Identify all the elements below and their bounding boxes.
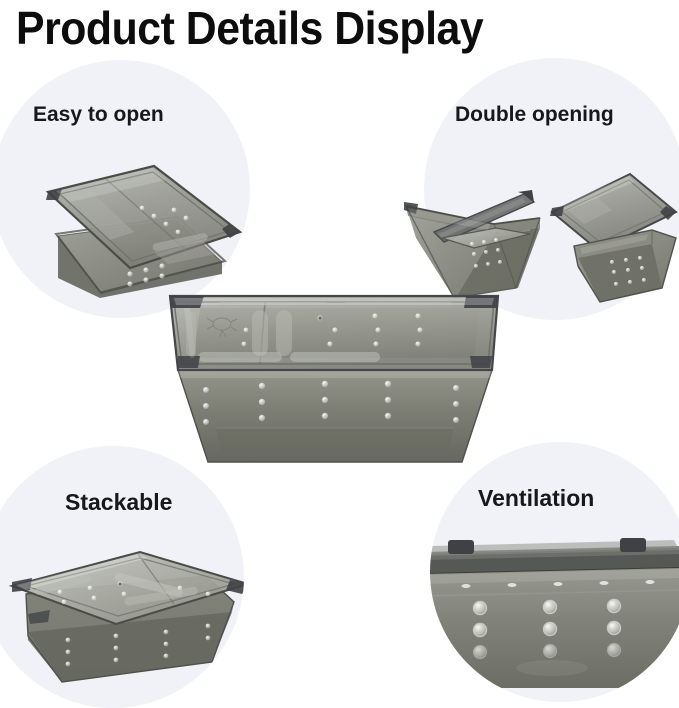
feature-label-easy-to-open: Easy to open: [33, 103, 164, 127]
page-title: Product Details Display: [16, 2, 621, 54]
feature-label-stackable: Stackable: [65, 489, 172, 516]
feature-label-double-opening: Double opening: [455, 103, 614, 127]
feature-image-easy-to-open: [26, 158, 266, 298]
feature-label-ventilation: Ventilation: [478, 485, 594, 512]
feature-image-double-opening-right: [534, 168, 679, 308]
product-details-page: Product Details Display Easy to open Dou…: [0, 0, 679, 688]
main-product-image: [160, 278, 510, 468]
feature-image-stackable: [0, 536, 268, 688]
feature-image-ventilation: [424, 528, 679, 688]
